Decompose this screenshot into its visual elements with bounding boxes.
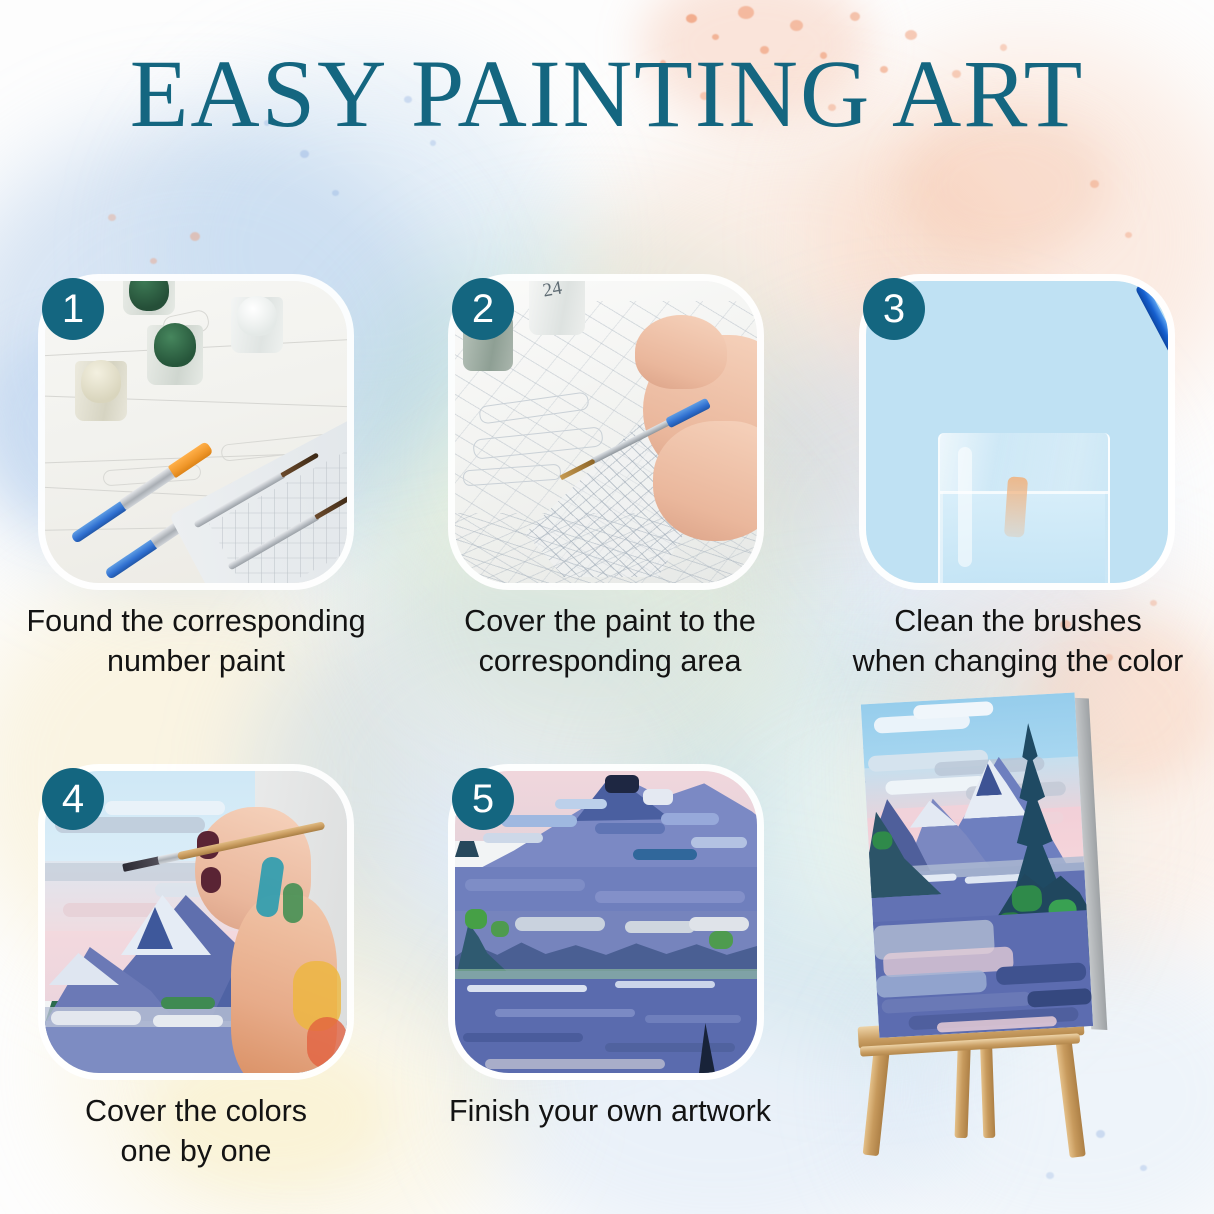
easel-leg-back-2 <box>980 1042 995 1138</box>
paint-smudge-green <box>283 883 303 923</box>
step-1-caption: Found the corresponding number paint <box>0 601 392 682</box>
finger-tip <box>635 315 727 389</box>
page-title: EASY PAINTING ART <box>0 46 1214 142</box>
step-5-caption: Finish your own artwork <box>414 1091 806 1131</box>
paint-residue <box>1004 476 1028 537</box>
step-3-badge: 3 <box>863 278 925 340</box>
poster-root: EASY PAINTING ART <box>0 0 1214 1214</box>
step-4-badge: 4 <box>42 768 104 830</box>
paint-pot-green-top <box>123 281 175 315</box>
step-4-caption: Cover the colors one by one <box>0 1091 392 1172</box>
step-2-badge: 2 <box>452 278 514 340</box>
easel-canvas <box>861 692 1101 1040</box>
thumb <box>653 421 757 541</box>
paint-pot-white <box>231 297 283 353</box>
fingernail-2 <box>201 867 221 893</box>
easel-leg-right <box>1054 1027 1086 1158</box>
paint-pot-labeled-24: 24 <box>529 281 585 335</box>
step-1-badge: 1 <box>42 278 104 340</box>
paint-pot-green <box>147 325 203 385</box>
wooden-display-easel <box>838 690 1214 1172</box>
paint-pot-label: 24 <box>541 281 564 302</box>
step-3-caption: Clean the brushes when changing the colo… <box>822 601 1214 682</box>
step-5-badge: 5 <box>452 768 514 830</box>
step-2-caption: Cover the paint to the corresponding are… <box>414 601 806 682</box>
easel-leg-back <box>955 1038 971 1138</box>
paint-smudge-red <box>307 1017 347 1069</box>
paint-pot-cream <box>75 361 127 421</box>
